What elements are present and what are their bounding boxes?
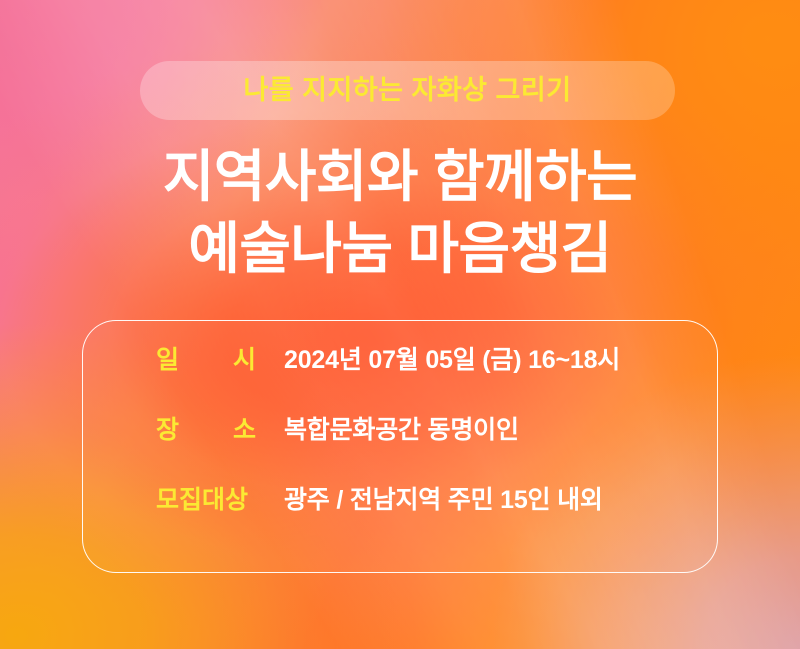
detail-value-audience: 광주 / 전남지역 주민 15인 내외: [284, 488, 603, 513]
page-title-line-two: 예술나눔 마음챙김: [0, 213, 800, 285]
subtitle-badge: 나를 지지하는 자화상 그리기: [140, 61, 675, 120]
detail-label-location-char-one: 장: [156, 418, 179, 443]
detail-row-datetime: 일 시 2024년 07월 05일 (금) 16~18시: [156, 348, 676, 418]
poster-content: 나를 지지하는 자화상 그리기 지역사회와 함께하는 예술나눔 마음챙김 일 시…: [0, 0, 800, 649]
event-details-list: 일 시 2024년 07월 05일 (금) 16~18시 장 소 복합문화공간 …: [156, 348, 676, 558]
detail-value-datetime: 2024년 07월 05일 (금) 16~18시: [284, 348, 620, 373]
detail-label-location-char-two: 소: [233, 418, 256, 443]
subtitle-badge-label: 나를 지지하는 자화상 그리기: [243, 77, 571, 104]
detail-row-audience: 모집대상 광주 / 전남지역 주민 15인 내외: [156, 488, 676, 558]
detail-label-datetime-char-one: 일: [156, 348, 179, 373]
detail-label-location: 장 소: [156, 418, 284, 443]
detail-value-location: 복합문화공간 동명이인: [284, 418, 519, 443]
detail-label-datetime-char-two: 시: [233, 348, 256, 373]
detail-label-datetime: 일 시: [156, 348, 284, 373]
event-poster: 나를 지지하는 자화상 그리기 지역사회와 함께하는 예술나눔 마음챙김 일 시…: [0, 0, 800, 649]
detail-row-location: 장 소 복합문화공간 동명이인: [156, 418, 676, 488]
page-title: 지역사회와 함께하는 예술나눔 마음챙김: [0, 141, 800, 285]
event-details-card: 일 시 2024년 07월 05일 (금) 16~18시 장 소 복합문화공간 …: [82, 320, 718, 573]
detail-label-audience: 모집대상: [156, 488, 284, 513]
page-title-line-one: 지역사회와 함께하는: [0, 141, 800, 213]
